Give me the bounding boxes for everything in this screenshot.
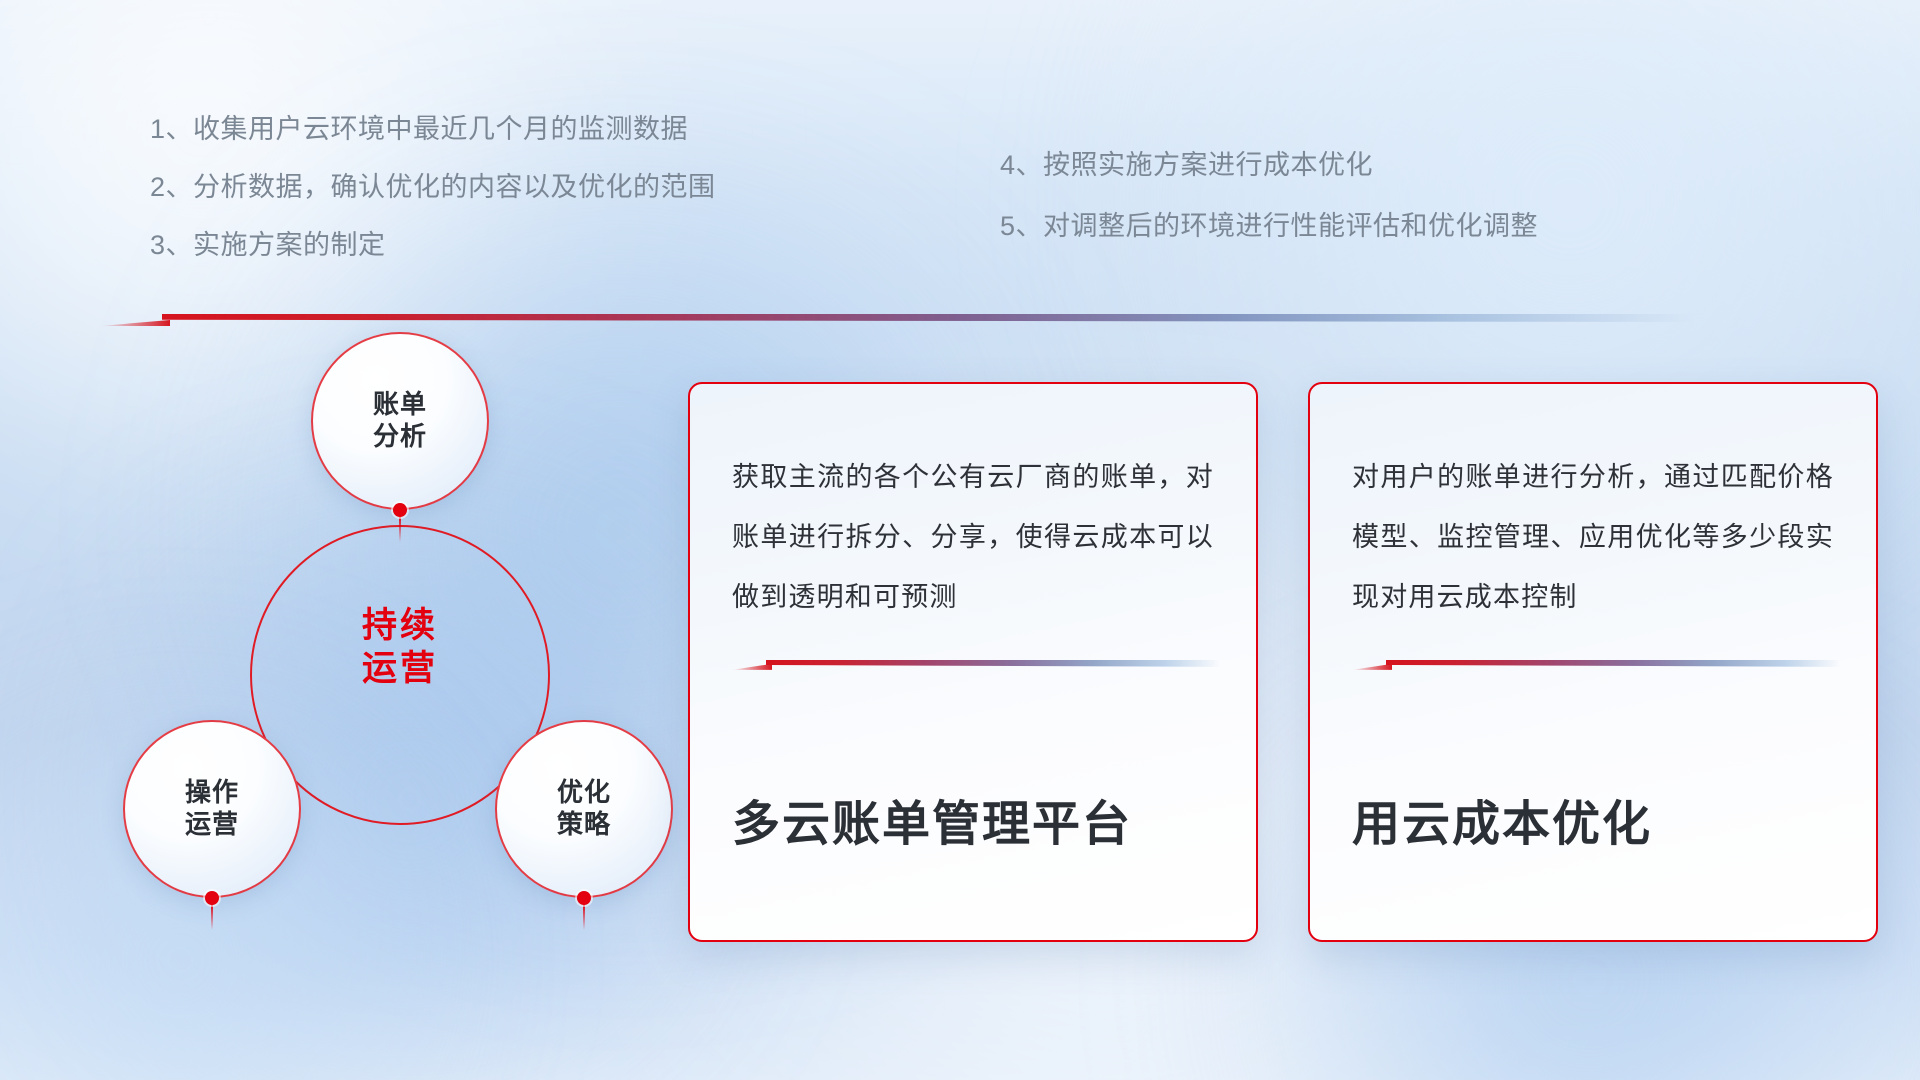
node-tick-top xyxy=(399,516,401,542)
step-item-3: 3、实施方案的制定 xyxy=(150,232,716,259)
section-divider xyxy=(100,314,1695,326)
node-tick-right xyxy=(583,904,585,930)
node-label-line-1: 操作 xyxy=(185,777,239,809)
node-dot-left xyxy=(205,891,219,905)
card-title: 用云成本优化 xyxy=(1352,784,1834,854)
card-divider xyxy=(732,660,1220,670)
diagram-center-label: 持续 运营 xyxy=(250,605,550,690)
node-tick-left xyxy=(211,904,213,930)
steps-left-column: 1、收集用户云环境中最近几个月的监测数据 2、分析数据，确认优化的内容以及优化的… xyxy=(150,116,716,290)
step-item-4: 4、按照实施方案进行成本优化 xyxy=(1000,152,1538,179)
card-divider-body xyxy=(1386,660,1840,667)
node-label-operations: 操作 运营 xyxy=(185,777,239,840)
node-label-line-2: 策略 xyxy=(557,809,611,841)
info-card-cloud-cost-optimization[interactable]: 对用户的账单进行分析，通过匹配价格模型、监控管理、应用优化等多少段实现对用云成本… xyxy=(1308,382,1878,942)
card-title: 多云账单管理平台 xyxy=(732,784,1214,854)
steps-right-column: 4、按照实施方案进行成本优化 5、对调整后的环境进行性能评估和优化调整 xyxy=(1000,152,1538,274)
center-label-line-1: 持续 xyxy=(250,605,550,648)
step-item-5: 5、对调整后的环境进行性能评估和优化调整 xyxy=(1000,213,1538,240)
diagram-node-operations[interactable]: 操作 运营 xyxy=(123,720,301,898)
card-body-text: 对用户的账单进行分析，通过匹配价格模型、监控管理、应用优化等多少段实现对用云成本… xyxy=(1352,448,1834,628)
diagram-node-optimization-strategy[interactable]: 优化 策略 xyxy=(495,720,673,898)
node-label-optimization-strategy: 优化 策略 xyxy=(557,777,611,840)
card-divider-body xyxy=(766,660,1220,667)
step-item-1: 1、收集用户云环境中最近几个月的监测数据 xyxy=(150,116,716,143)
diagram-node-bill-analysis[interactable]: 账单 分析 xyxy=(311,332,489,510)
center-label-line-2: 运营 xyxy=(250,648,550,691)
node-dot-top xyxy=(393,503,407,517)
continuous-operation-diagram: 持续 运营 账单 分析 操作 运营 优化 策略 xyxy=(95,350,655,970)
card-divider xyxy=(1352,660,1840,670)
node-dot-right xyxy=(577,891,591,905)
card-body-text: 获取主流的各个公有云厂商的账单，对账单进行拆分、分享，使得云成本可以做到透明和可… xyxy=(732,448,1214,628)
divider-tail xyxy=(100,320,170,326)
node-label-bill-analysis: 账单 分析 xyxy=(373,389,427,452)
node-label-line-2: 运营 xyxy=(185,809,239,841)
divider-body xyxy=(162,314,1695,322)
node-label-line-2: 分析 xyxy=(373,421,427,453)
node-label-line-1: 账单 xyxy=(373,389,427,421)
step-item-2: 2、分析数据，确认优化的内容以及优化的范围 xyxy=(150,174,716,201)
info-card-multicloud-billing[interactable]: 获取主流的各个公有云厂商的账单，对账单进行拆分、分享，使得云成本可以做到透明和可… xyxy=(688,382,1258,942)
node-label-line-1: 优化 xyxy=(557,777,611,809)
